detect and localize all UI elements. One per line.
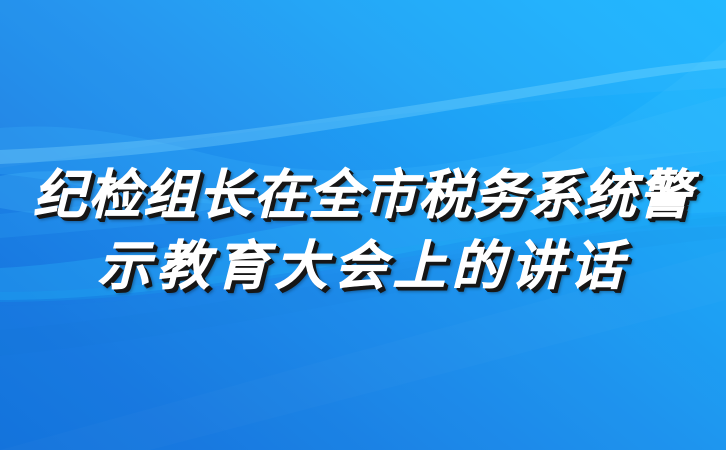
banner-title-line-1: 纪检组长在全市税务系统警 — [33, 160, 693, 231]
banner-title-line-2: 示教育大会上的讲话 — [98, 231, 629, 302]
article-cover-banner: 纪检组长在全市税务系统警 示教育大会上的讲话 — [0, 0, 726, 450]
banner-title-block: 纪检组长在全市税务系统警 示教育大会上的讲话 — [0, 0, 726, 450]
